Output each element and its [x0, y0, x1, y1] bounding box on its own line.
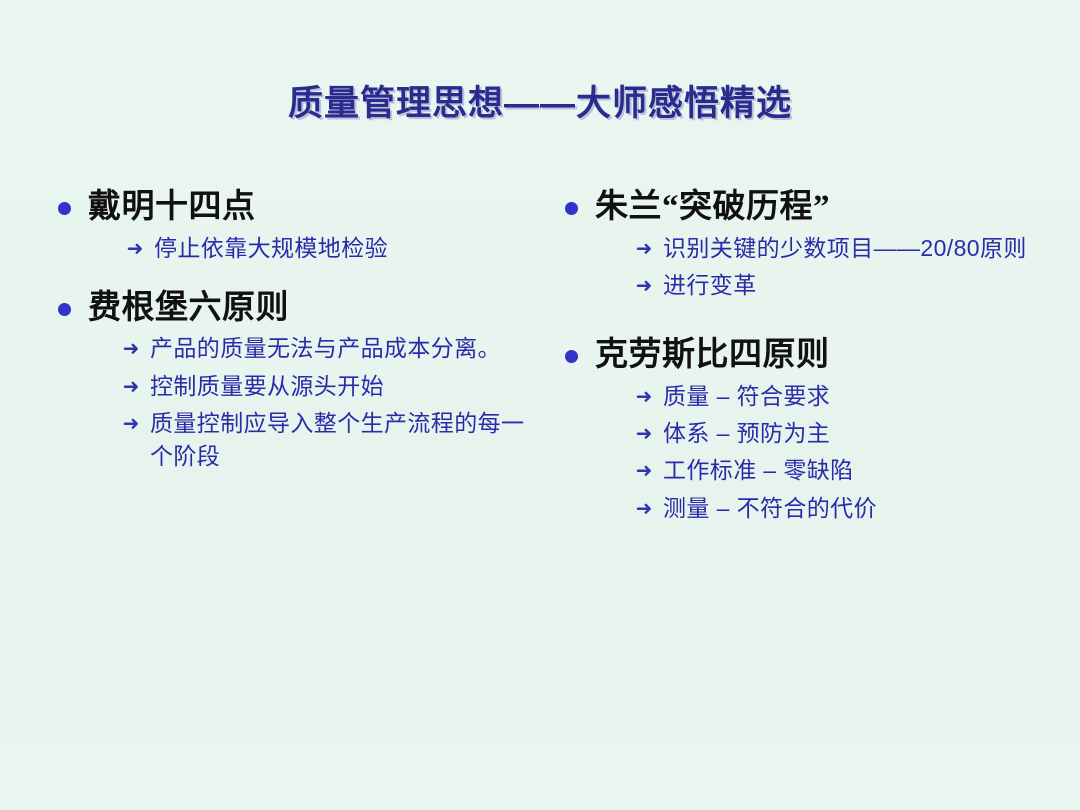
bullet-group-juran: 朱兰“突破历程” ➜ 识别关键的少数项目——20/80原则 ➜ 进行变革 — [565, 186, 1055, 302]
list-item-label: 进行变革 — [663, 269, 757, 302]
list-item[interactable]: ➜ 体系 – 预防为主 — [633, 417, 1055, 450]
list-item-label: 产品的质量无法与产品成本分离。 — [150, 332, 501, 365]
sub-list-juran: ➜ 识别关键的少数项目——20/80原则 ➜ 进行变革 — [565, 232, 1055, 303]
sub-list-deming: ➜ 停止依靠大规模地检验 — [58, 232, 548, 265]
sub-list-crosby: ➜ 质量 – 符合要求 ➜ 体系 – 预防为主 ➜ 工作标准 – 零缺陷 ➜ 测… — [565, 380, 1055, 525]
list-item-label: 质量控制应导入整个生产流程的每一个阶段 — [150, 407, 540, 474]
list-item-label: 测量 – 不符合的代价 — [663, 492, 877, 525]
list-item[interactable]: ➜ 质量 – 符合要求 — [633, 380, 1055, 413]
heading-label: 费根堡六原则 — [88, 287, 289, 331]
list-item[interactable]: ➜ 工作标准 – 零缺陷 — [633, 454, 1055, 487]
right-column: 朱兰“突破历程” ➜ 识别关键的少数项目——20/80原则 ➜ 进行变革 — [565, 186, 1055, 533]
list-item-label: 识别关键的少数项目——20/80原则 — [663, 232, 1027, 265]
bullet-group-deming: 戴明十四点 ➜ 停止依靠大规模地检验 — [58, 186, 548, 265]
list-item[interactable]: ➜ 控制质量要从源头开始 — [120, 370, 548, 403]
left-column: 戴明十四点 ➜ 停止依靠大规模地检验 费根堡六原则 — [58, 186, 548, 482]
list-item[interactable]: ➜ 识别关键的少数项目——20/80原则 — [633, 232, 1055, 265]
list-item[interactable]: ➜ 停止依靠大规模地检验 — [124, 232, 548, 265]
bullet-dot-icon — [58, 202, 71, 215]
heading-label: 克劳斯比四原则 — [595, 334, 830, 378]
arrow-bullet-icon: ➜ — [120, 410, 142, 439]
list-item[interactable]: ➜ 进行变革 — [633, 269, 1055, 302]
heading-label: 朱兰“突破历程” — [595, 186, 830, 230]
arrow-bullet-icon: ➜ — [633, 420, 655, 449]
bullet-dot-icon — [565, 202, 578, 215]
list-item-label: 控制质量要从源头开始 — [150, 370, 384, 403]
spacer — [565, 310, 1055, 334]
list-item-label: 工作标准 – 零缺陷 — [663, 454, 854, 487]
title-area: 质量管理思想——大师感悟精选 — [0, 52, 1080, 150]
list-item[interactable]: ➜ 产品的质量无法与产品成本分离。 — [120, 332, 548, 365]
list-item-label: 体系 – 预防为主 — [663, 417, 830, 450]
list-item-label: 质量 – 符合要求 — [663, 380, 830, 413]
arrow-bullet-icon: ➜ — [633, 235, 655, 264]
content-columns: 戴明十四点 ➜ 停止依靠大规模地检验 费根堡六原则 — [0, 186, 1080, 786]
arrow-bullet-icon: ➜ — [120, 335, 142, 364]
bullet-group-crosby: 克劳斯比四原则 ➜ 质量 – 符合要求 ➜ 体系 – 预防为主 ➜ 工作标准 –… — [565, 334, 1055, 525]
heading-deming[interactable]: 戴明十四点 — [58, 186, 548, 230]
heading-crosby[interactable]: 克劳斯比四原则 — [565, 334, 1055, 378]
spacer — [58, 273, 548, 287]
bullet-dot-icon — [58, 303, 71, 316]
arrow-bullet-icon: ➜ — [633, 272, 655, 301]
sub-list-feigenbaum: ➜ 产品的质量无法与产品成本分离。 ➜ 控制质量要从源头开始 ➜ 质量控制应导入… — [58, 332, 548, 473]
list-item[interactable]: ➜ 质量控制应导入整个生产流程的每一个阶段 — [120, 407, 548, 474]
heading-label: 戴明十四点 — [88, 186, 256, 230]
arrow-bullet-icon: ➜ — [633, 383, 655, 412]
heading-feigenbaum[interactable]: 费根堡六原则 — [58, 287, 548, 331]
list-item-label: 停止依靠大规模地检验 — [154, 232, 388, 265]
slide-canvas: 质量管理思想——大师感悟精选 戴明十四点 ➜ 停止依靠大规模地检验 — [0, 0, 1080, 810]
arrow-bullet-icon: ➜ — [633, 495, 655, 524]
arrow-bullet-icon: ➜ — [120, 373, 142, 402]
arrow-bullet-icon: ➜ — [633, 457, 655, 486]
list-item[interactable]: ➜ 测量 – 不符合的代价 — [633, 492, 1055, 525]
bullet-group-feigenbaum: 费根堡六原则 ➜ 产品的质量无法与产品成本分离。 ➜ 控制质量要从源头开始 ➜ … — [58, 287, 548, 474]
page-title: 质量管理思想——大师感悟精选 — [288, 75, 792, 126]
bullet-dot-icon — [565, 350, 578, 363]
heading-juran[interactable]: 朱兰“突破历程” — [565, 186, 1055, 230]
arrow-bullet-icon: ➜ — [124, 235, 146, 264]
